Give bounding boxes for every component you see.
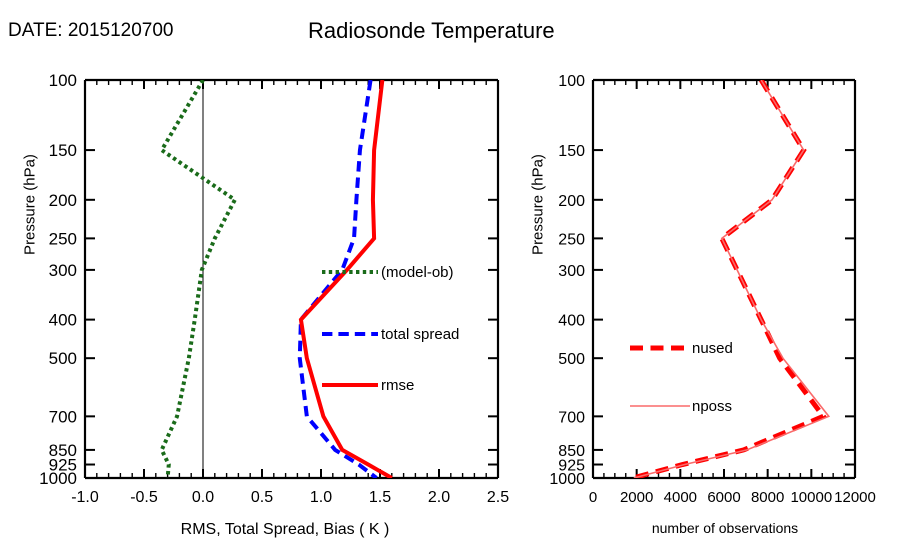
- x-tick-label: 2000: [620, 489, 653, 506]
- series-line-modelob: [162, 80, 235, 478]
- y-tick-label: 1000: [39, 469, 77, 488]
- x-tick-label: -0.5: [130, 489, 158, 506]
- series-line-rmse: [301, 80, 392, 478]
- y-tick-label: 700: [558, 409, 585, 426]
- legend-label-rmse: rmse: [381, 377, 414, 394]
- legend-label-nused: nused: [692, 340, 733, 357]
- x-tick-label: 1.5: [369, 489, 391, 506]
- x-tick-label: 6000: [707, 489, 740, 506]
- y-tick-label: 700: [49, 407, 77, 426]
- y-tick-label: 500: [49, 349, 77, 368]
- figure-root: DATE: 2015120700 Radiosonde Temperature …: [0, 0, 900, 560]
- y-tick-label: 400: [49, 311, 77, 330]
- x-tick-label: 0.5: [251, 489, 273, 506]
- x-tick-label: 0.0: [192, 489, 214, 506]
- y-tick-label: 500: [558, 351, 585, 368]
- y-tick-label: 200: [49, 191, 77, 210]
- y-tick-label: 200: [558, 193, 585, 210]
- y-tick-label: 250: [558, 231, 585, 248]
- x-tick-label: -1.0: [71, 489, 99, 506]
- series-line-nused: [633, 80, 823, 478]
- y-tick-label: 300: [558, 263, 585, 280]
- x-tick-label: 4000: [664, 489, 697, 506]
- y-tick-label: 250: [49, 229, 77, 248]
- y-tick-label: 400: [558, 313, 585, 330]
- y-tick-label: 150: [558, 143, 585, 160]
- legend-label-modelob: (model-ob): [381, 264, 454, 281]
- x-tick-label: 0: [589, 489, 597, 506]
- x-tick-label: 8000: [751, 489, 784, 506]
- plot-canvas: -1.0-0.50.00.51.01.52.02.510015020025030…: [0, 0, 900, 560]
- x-tick-label: 1.0: [310, 489, 332, 506]
- y-tick-label: 100: [558, 73, 585, 90]
- x-tick-label: 10000: [790, 489, 832, 506]
- y-tick-label: 1000: [549, 471, 585, 488]
- legend-label-totalspread: total spread: [381, 326, 459, 343]
- y-tick-label: 300: [49, 261, 77, 280]
- y-tick-label: 150: [49, 141, 77, 160]
- y-tick-label: 100: [49, 71, 77, 90]
- x-tick-label: 2.0: [428, 489, 450, 506]
- x-tick-label: 12000: [834, 489, 876, 506]
- x-tick-label: 2.5: [487, 489, 509, 506]
- legend-label-nposs: nposs: [692, 398, 732, 415]
